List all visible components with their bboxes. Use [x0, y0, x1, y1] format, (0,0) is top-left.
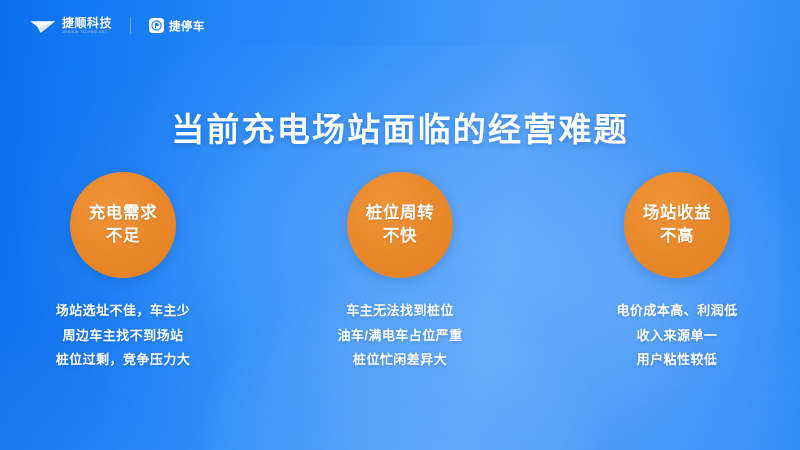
- problem-bubble-1-line-2: 不足: [106, 225, 140, 248]
- problem-bubble-3: 场站收益 不高: [624, 172, 730, 278]
- problem-detail-line: 车主无法找到桩位: [346, 301, 454, 321]
- problem-bubble-1-line-1: 充电需求: [89, 202, 157, 225]
- problem-bubble-1: 充电需求 不足: [70, 172, 176, 278]
- page-title: 当前充电场站面临的经营难题: [0, 103, 800, 151]
- brand-jietingche-name-cn: 捷停车: [169, 18, 205, 34]
- problem-detail-line: 周边车主找不到场站: [62, 326, 183, 346]
- brand-jietingche: 捷停车: [149, 18, 205, 34]
- problem-detail-line: 场站选址不佳，车主少: [56, 301, 191, 321]
- problem-bubble-3-line-2: 不高: [660, 225, 694, 248]
- problem-column-3: 场站收益 不高 电价成本高、利润低 收入来源单一 用户粘性较低: [582, 172, 772, 370]
- presentation-slide: 捷顺科技 JIESHUN TECHNOLOGY 捷停车 当前充电场站面临的经营难…: [0, 0, 800, 450]
- paper-plane-logo-mark: [30, 18, 56, 34]
- problem-bubble-2-line-1: 桩位周转: [366, 202, 434, 225]
- problem-bubble-3-line-1: 场站收益: [643, 202, 711, 225]
- brand-jieshun: 捷顺科技 JIESHUN TECHNOLOGY: [30, 17, 112, 34]
- problem-details-1: 场站选址不佳，车主少 周边车主找不到场站 桩位过剩，竞争压力大: [56, 301, 191, 370]
- problem-bubble-2-line-2: 不快: [383, 225, 417, 248]
- brand-jieshun-text: 捷顺科技 JIESHUN TECHNOLOGY: [62, 17, 112, 34]
- problem-details-2: 车主无法找到桩位 油车/满电车占位严重 桩位忙闲差异大: [337, 301, 462, 370]
- problem-details-3: 电价成本高、利润低 收入来源单一 用户粘性较低: [616, 301, 737, 370]
- problem-detail-line: 用户粘性较低: [637, 350, 718, 370]
- slide-header: 捷顺科技 JIESHUN TECHNOLOGY 捷停车: [30, 17, 205, 34]
- problem-column-1: 充电需求 不足 场站选址不佳，车主少 周边车主找不到场站 桩位过剩，竞争压力大: [28, 172, 218, 370]
- problem-column-2: 桩位周转 不快 车主无法找到桩位 油车/满电车占位严重 桩位忙闲差异大: [305, 172, 495, 370]
- problem-detail-line: 桩位过剩，竞争压力大: [56, 350, 191, 370]
- problem-bubble-2: 桩位周转 不快: [347, 172, 453, 278]
- problem-detail-line: 油车/满电车占位严重: [337, 326, 462, 346]
- brand-divider: [130, 17, 131, 34]
- jieting-app-badge-icon: [149, 18, 164, 33]
- problem-detail-line: 桩位忙闲差异大: [353, 350, 447, 370]
- problem-detail-line: 电价成本高、利润低: [616, 301, 737, 321]
- problem-columns: 充电需求 不足 场站选址不佳，车主少 周边车主找不到场站 桩位过剩，竞争压力大 …: [0, 172, 800, 370]
- brand-jieshun-name-en: JIESHUN TECHNOLOGY: [62, 31, 110, 34]
- brand-jieshun-name-cn: 捷顺科技: [62, 17, 112, 29]
- problem-detail-line: 收入来源单一: [637, 326, 718, 346]
